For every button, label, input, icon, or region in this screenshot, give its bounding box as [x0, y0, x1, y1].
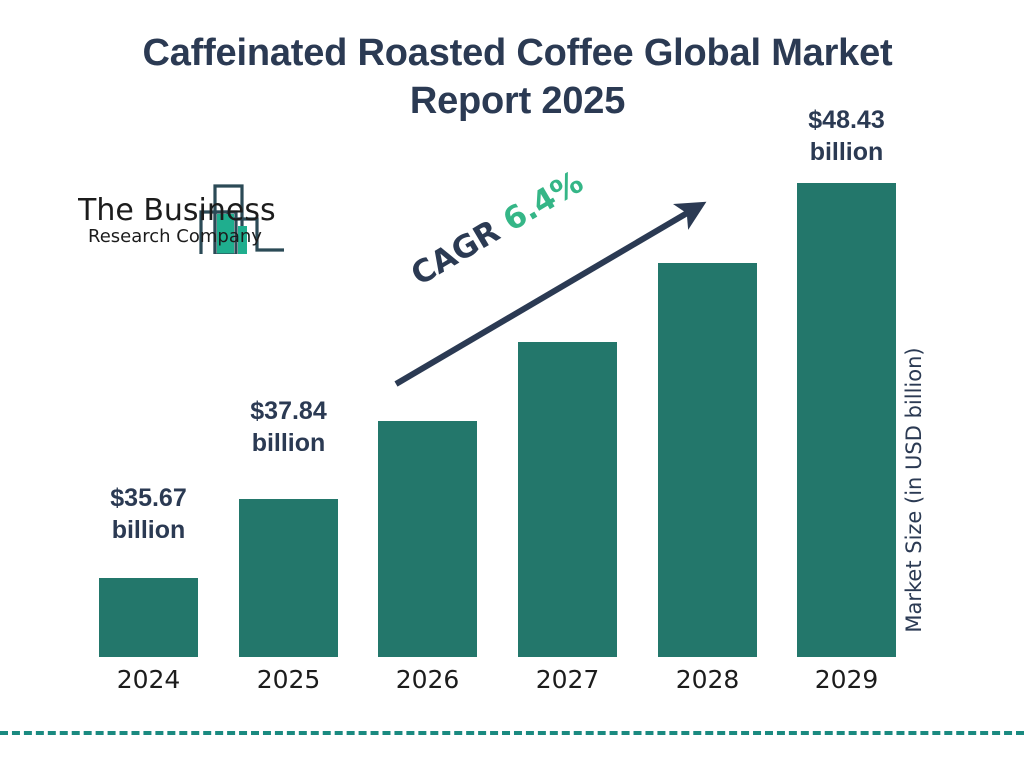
bar-2029: [797, 183, 896, 657]
bar-chart-plot: $35.67 billion $37.84 billion $48.43 bil…: [0, 0, 1024, 768]
bar-2025: [239, 499, 338, 657]
bar-2026: [378, 421, 477, 657]
x-tick-2027: 2027: [518, 665, 617, 694]
bar-2027: [518, 342, 617, 657]
market-report-infographic: Caffeinated Roasted Coffee Global Market…: [0, 0, 1024, 768]
x-tick-2025: 2025: [239, 665, 338, 694]
bar-2028: [658, 263, 757, 657]
bar-value-2024: $35.67 billion: [99, 482, 198, 546]
bar-value-2025: $37.84 billion: [219, 395, 358, 459]
x-tick-2026: 2026: [378, 665, 477, 694]
bar-value-2029: $48.43 billion: [777, 104, 916, 168]
x-tick-2024: 2024: [99, 665, 198, 694]
x-tick-2029: 2029: [797, 665, 896, 694]
y-axis-title: Market Size (in USD billion): [902, 330, 926, 650]
bar-2024: [99, 578, 198, 657]
x-tick-2028: 2028: [658, 665, 757, 694]
footer-divider: [0, 731, 1024, 735]
